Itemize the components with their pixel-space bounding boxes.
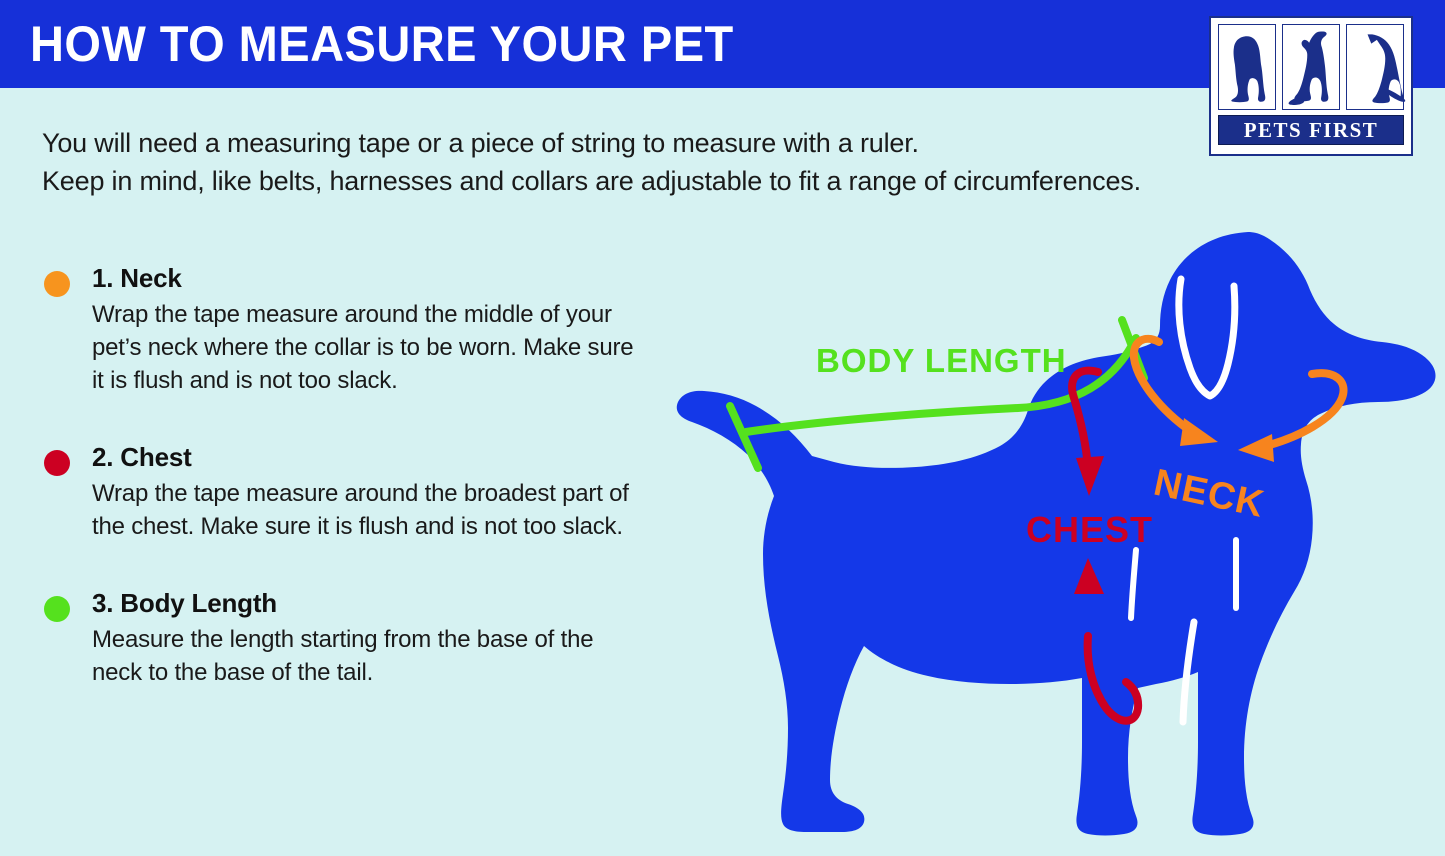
logo-wordmark: PETS FIRST <box>1218 115 1404 145</box>
step-title-neck: 1. Neck <box>92 262 660 294</box>
logo-icon-row <box>1218 24 1404 110</box>
step-body-neck: Wrap the tape measure around the middle … <box>92 298 640 397</box>
step-bullet-body-length <box>44 596 70 622</box>
intro-line-1: You will need a measuring tape or a piec… <box>42 124 1202 162</box>
sitting-dog-silhouette-icon <box>1218 24 1276 110</box>
infographic-page: HOW TO MEASURE YOUR PET <box>0 0 1445 856</box>
logo-wordmark-text: PETS FIRST <box>1244 120 1379 141</box>
step-title-body-length: 3. Body Length <box>92 587 660 619</box>
howling-dog-silhouette-icon <box>1282 24 1340 110</box>
intro-text: You will need a measuring tape or a piec… <box>42 124 1202 200</box>
step-body-length: 3. Body Length Measure the length starti… <box>40 587 660 689</box>
dog-measurement-diagram: BODY LENGTH NECK CHEST <box>636 222 1442 847</box>
step-body-chest: Wrap the tape measure around the broades… <box>92 477 640 543</box>
chest-label: CHEST <box>1026 509 1153 550</box>
measurement-steps-list: 1. Neck Wrap the tape measure around the… <box>40 262 660 723</box>
brand-logo: PETS FIRST <box>1209 16 1413 156</box>
step-bullet-neck <box>44 271 70 297</box>
step-title-chest: 2. Chest <box>92 441 660 473</box>
intro-line-2: Keep in mind, like belts, harnesses and … <box>42 162 1202 200</box>
step-bullet-chest <box>44 450 70 476</box>
step-neck: 1. Neck Wrap the tape measure around the… <box>40 262 660 397</box>
step-chest: 2. Chest Wrap the tape measure around th… <box>40 441 660 543</box>
page-title: HOW TO MEASURE YOUR PET <box>30 16 734 72</box>
step-body-body-length: Measure the length starting from the bas… <box>92 623 640 689</box>
body-length-label: BODY LENGTH <box>816 342 1067 379</box>
sitting-shepherd-silhouette-icon <box>1346 24 1404 110</box>
